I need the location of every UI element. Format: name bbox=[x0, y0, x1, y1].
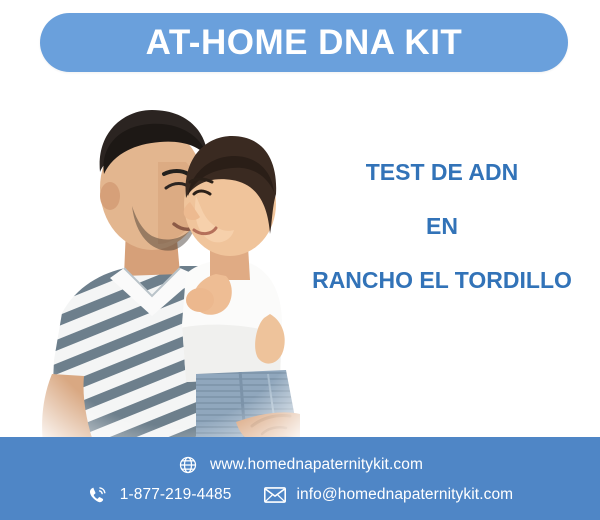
phone-contact[interactable]: 1-877-219-4485 bbox=[87, 484, 232, 506]
footer-contact-bar: www.homednapaternitykit.com 1-877-219-44… bbox=[0, 437, 600, 520]
page-title: AT-HOME DNA KIT bbox=[146, 25, 463, 60]
poster-canvas: AT-HOME DNA KIT bbox=[0, 0, 600, 520]
headline-line-2: EN bbox=[296, 214, 588, 238]
phone-icon bbox=[87, 484, 109, 506]
website-contact[interactable]: www.homednapaternitykit.com bbox=[177, 454, 423, 476]
envelope-icon bbox=[264, 484, 286, 506]
headline-line-3: RANCHO EL TORDILLO bbox=[296, 268, 588, 292]
globe-icon bbox=[177, 454, 199, 476]
website-label: www.homednapaternitykit.com bbox=[210, 456, 423, 474]
family-photo bbox=[0, 78, 340, 450]
headline-line-1: TEST DE ADN bbox=[296, 160, 588, 184]
footer-website-row: www.homednapaternitykit.com bbox=[0, 454, 600, 476]
email-contact[interactable]: info@homednapaternitykit.com bbox=[264, 484, 514, 506]
footer-contact-row: 1-877-219-4485 info@homednapaternitykit.… bbox=[0, 484, 600, 506]
header-banner: AT-HOME DNA KIT bbox=[40, 13, 568, 72]
headline-block: TEST DE ADN EN RANCHO EL TORDILLO bbox=[296, 160, 588, 292]
family-photo-image bbox=[0, 78, 340, 450]
email-label: info@homednapaternitykit.com bbox=[297, 486, 514, 504]
phone-label: 1-877-219-4485 bbox=[120, 486, 232, 504]
